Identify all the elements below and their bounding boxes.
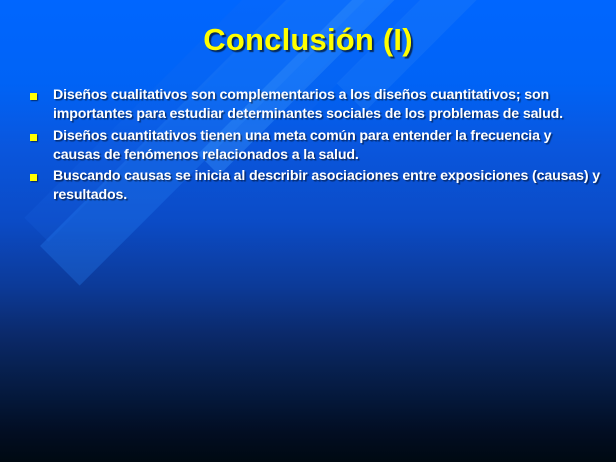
diagonal-stripes-decoration	[0, 0, 616, 462]
square-bullet-icon	[30, 174, 37, 181]
list-item: Diseños cualitativos son complementarios…	[30, 86, 602, 125]
bullet-list: Diseños cualitativos son complementarios…	[30, 86, 602, 208]
square-bullet-icon	[30, 134, 37, 141]
list-item-text: Diseños cualitativos son complementarios…	[53, 86, 602, 125]
page-title: Conclusión (I)	[0, 22, 616, 58]
presentation-slide: Conclusión (I) Diseños cualitativos son …	[0, 0, 616, 462]
list-item-text: Diseños cuantitativos tienen una meta co…	[53, 127, 602, 166]
list-item: Diseños cuantitativos tienen una meta co…	[30, 127, 602, 166]
list-item-text: Buscando causas se inicia al describir a…	[53, 167, 602, 206]
square-bullet-icon	[30, 93, 37, 100]
list-item: Buscando causas se inicia al describir a…	[30, 167, 602, 206]
